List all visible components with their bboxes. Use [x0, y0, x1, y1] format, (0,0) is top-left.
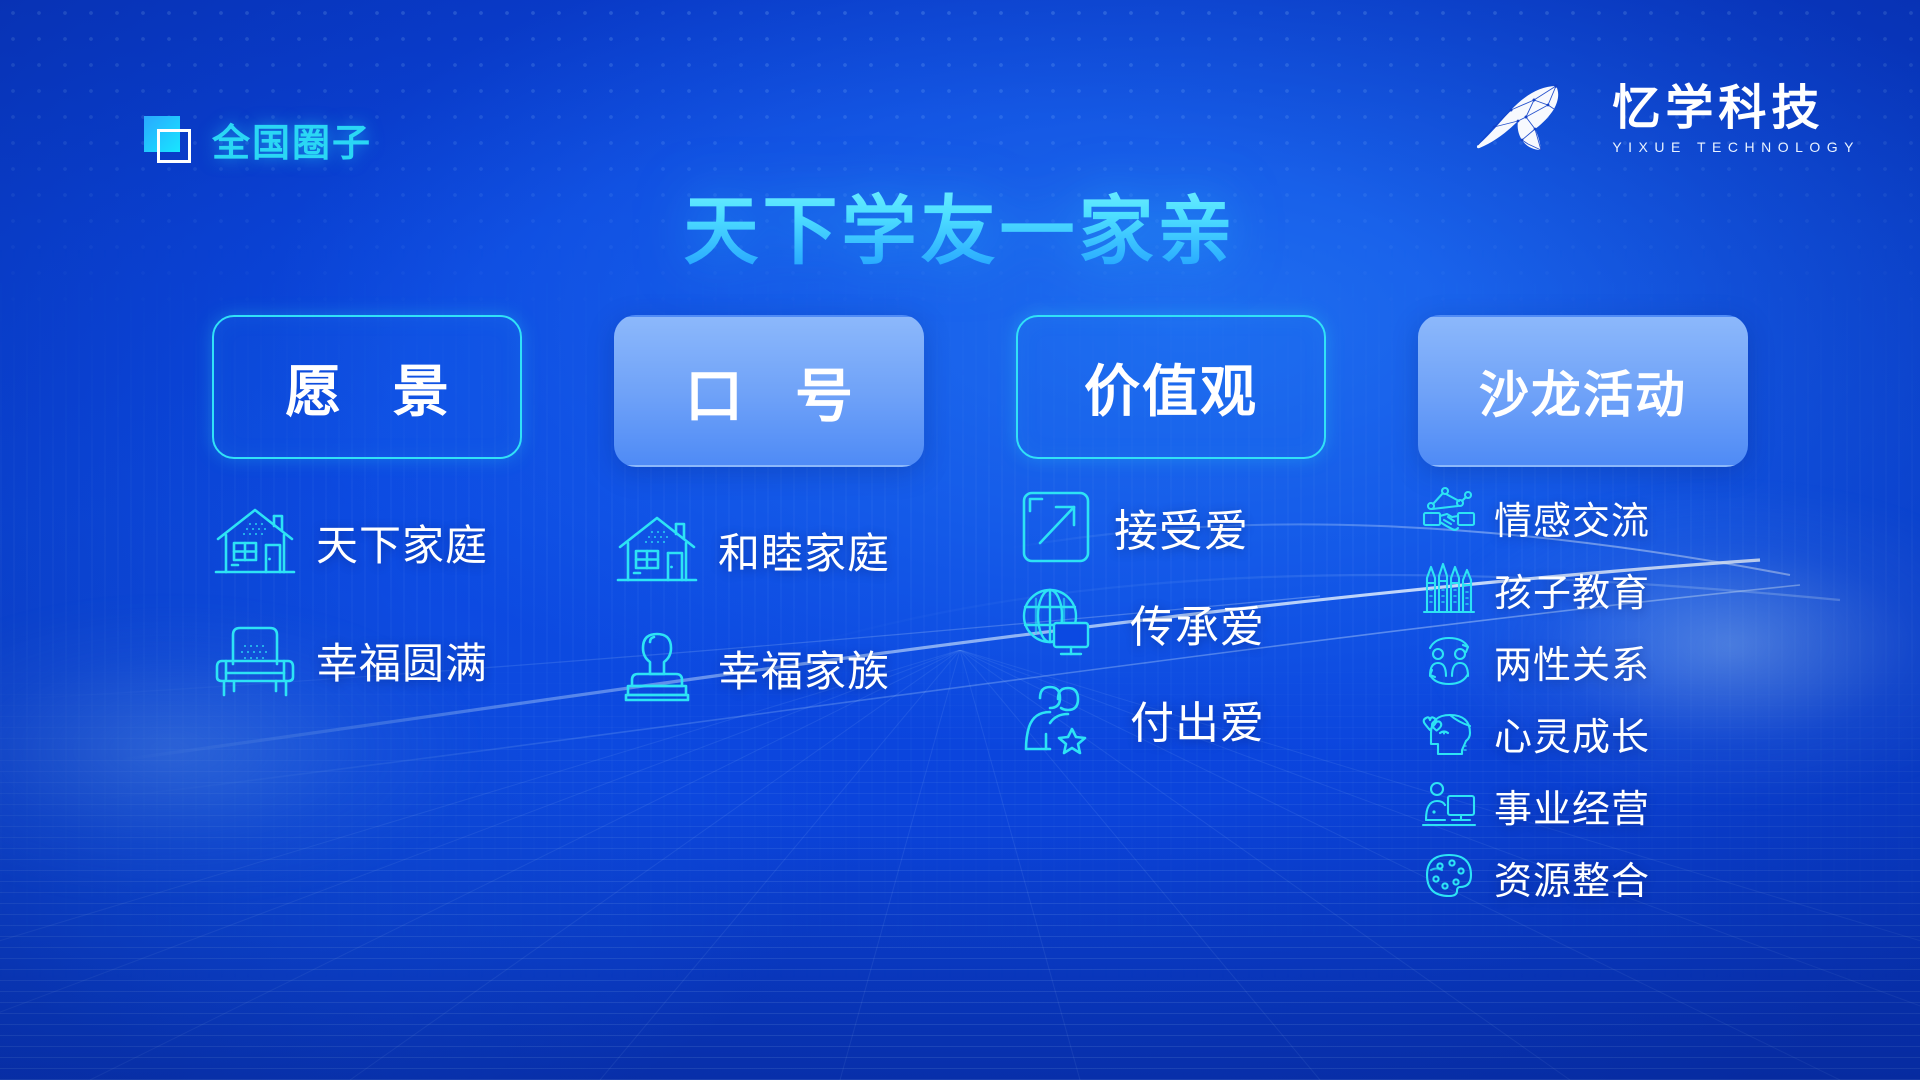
category-chip-salon[interactable]: 沙龙活动	[1418, 315, 1748, 467]
list-item[interactable]: 资源整合	[1418, 841, 1748, 913]
item-list-vision: 天下家庭	[212, 483, 522, 719]
pencils-icon	[1418, 558, 1480, 620]
item-list-slogan: 和睦家庭 幸福家族	[614, 491, 924, 727]
logo-company-name-en: YIXUE TECHNOLOGY	[1612, 139, 1860, 155]
list-item[interactable]: 传承爱	[1016, 575, 1326, 671]
item-list-salon: 情感交流	[1418, 481, 1748, 913]
page-badge: 全国圈子	[144, 112, 372, 167]
stamp-icon	[614, 625, 700, 711]
list-item[interactable]: 孩子教育	[1418, 553, 1748, 625]
column-salon: 沙龙活动	[1418, 315, 1748, 913]
list-item[interactable]: 付出爱	[1016, 671, 1326, 767]
page-title: 天下学友一家亲	[0, 170, 1920, 279]
column-values: 价值观 接受爱	[1016, 315, 1326, 767]
list-item-label: 孩子教育	[1494, 562, 1650, 617]
list-item-label: 心灵成长	[1494, 706, 1650, 761]
badge-label: 全国圈子	[212, 112, 372, 167]
list-item[interactable]: 幸福家族	[614, 609, 924, 727]
brand-logo: 忆学科技 YIXUE TECHNOLOGY	[1470, 80, 1860, 158]
list-item-label: 和睦家庭	[718, 520, 890, 581]
list-item-label: 接受爱	[1114, 495, 1249, 559]
list-item-label: 付出爱	[1130, 687, 1265, 751]
list-item[interactable]: 事业经营	[1418, 769, 1748, 841]
list-item-label: 两性关系	[1494, 634, 1650, 689]
category-columns: 愿 景	[0, 315, 1920, 1055]
arrow-in-box-icon	[1016, 487, 1096, 567]
globe-monitor-icon	[1016, 583, 1096, 663]
list-item[interactable]: 接受爱	[1016, 479, 1326, 575]
list-item-label: 幸福圆满	[316, 630, 488, 691]
dolphin-logo-icon	[1470, 80, 1590, 158]
category-chip-values[interactable]: 价值观	[1016, 315, 1326, 459]
house-icon	[212, 499, 298, 585]
house-icon	[614, 507, 700, 593]
two-people-cycle-icon	[1418, 630, 1480, 692]
slide-canvas: 全国圈子	[0, 0, 1920, 1080]
handshake-network-icon	[1418, 486, 1480, 548]
category-chip-vision[interactable]: 愿 景	[212, 315, 522, 459]
list-item-label: 天下家庭	[316, 512, 488, 573]
list-item[interactable]: 和睦家庭	[614, 491, 924, 609]
people-star-icon	[1016, 679, 1096, 759]
palette-icon	[1418, 846, 1480, 908]
list-item[interactable]: 幸福圆满	[212, 601, 522, 719]
list-item-label: 资源整合	[1494, 850, 1650, 905]
person-monitor-icon	[1418, 774, 1480, 836]
armchair-icon	[212, 617, 298, 703]
list-item-label: 幸福家族	[718, 638, 890, 699]
list-item[interactable]: 情感交流	[1418, 481, 1748, 553]
logo-company-name-cn: 忆学科技	[1612, 83, 1860, 135]
item-list-values: 接受爱	[1016, 479, 1326, 767]
head-heart-icon	[1418, 702, 1480, 764]
list-item-label: 事业经营	[1494, 778, 1650, 833]
column-slogan: 口 号	[614, 315, 924, 727]
list-item[interactable]: 心灵成长	[1418, 697, 1748, 769]
list-item-label: 情感交流	[1494, 490, 1650, 545]
list-item[interactable]: 两性关系	[1418, 625, 1748, 697]
list-item-label: 传承爱	[1130, 591, 1265, 655]
column-vision: 愿 景	[212, 315, 522, 719]
list-item[interactable]: 天下家庭	[212, 483, 522, 601]
square-overlap-icon	[144, 116, 192, 164]
category-chip-slogan[interactable]: 口 号	[614, 315, 924, 467]
